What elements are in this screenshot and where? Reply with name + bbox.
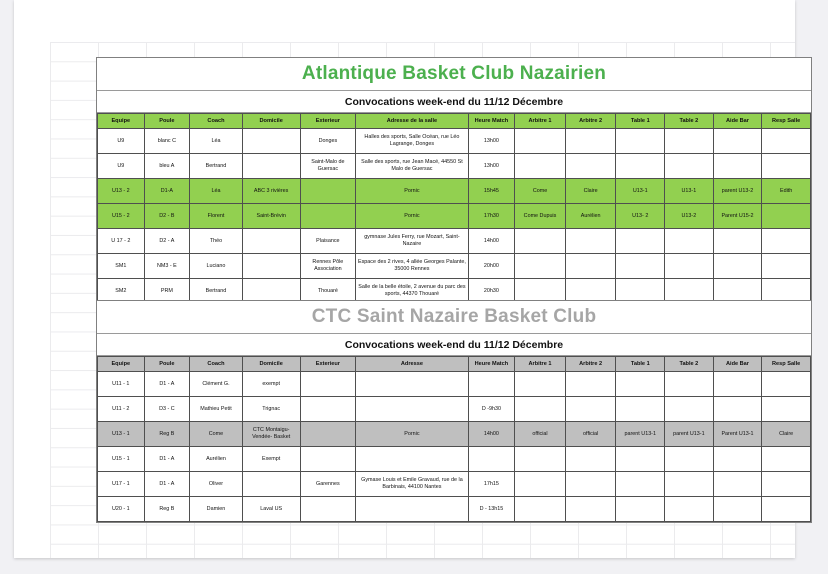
table-cell — [242, 254, 300, 279]
bottom-margin-strip — [0, 558, 828, 574]
table-cell: U13 - 2 — [98, 179, 145, 204]
table-cell — [762, 447, 811, 472]
column-header-resp-salle: Resp Salle — [762, 114, 811, 129]
table-cell — [665, 447, 714, 472]
table-cell — [713, 497, 762, 522]
column-header-arbitre-2: Arbitre 2 — [565, 357, 616, 372]
table-cell: parent U13-1 — [616, 422, 665, 447]
table-cell: 17h15 — [468, 472, 515, 497]
table-cell — [665, 497, 714, 522]
table-row: U11 - 1D1 - AClément G.exempt — [98, 372, 811, 397]
table-cell — [565, 254, 616, 279]
table-cell: Aurélien — [565, 204, 616, 229]
convocations-table-ctc: EquipePouleCoachDomicileExterieurAdresse… — [97, 356, 811, 522]
table-cell — [665, 397, 714, 422]
table-cell — [242, 154, 300, 179]
table-cell: D1 - A — [144, 372, 190, 397]
screenshot-viewport: Atlantique Basket Club Nazairien Convoca… — [0, 0, 828, 574]
table-cell: Saint-Malo de Guersac — [300, 154, 356, 179]
table-cell: Théo — [190, 229, 243, 254]
table-cell: Come Dupuis — [515, 204, 566, 229]
table-cell: U13-1 — [616, 179, 665, 204]
table-cell: Bertrand — [190, 154, 243, 179]
table-cell: 20h00 — [468, 254, 515, 279]
table-cell: U13-1 — [665, 179, 714, 204]
table-cell — [665, 229, 714, 254]
table-row: U13 - 2D1-ALéaABC 3 rivièresPornic15h45C… — [98, 179, 811, 204]
table-cell: Saint-Brévin — [242, 204, 300, 229]
table-cell — [515, 154, 566, 179]
table-cell: Pornic — [356, 422, 468, 447]
table-cell — [762, 154, 811, 179]
table-cell: D - 13h15 — [468, 497, 515, 522]
table-cell — [713, 229, 762, 254]
table-cell — [356, 447, 468, 472]
table-cell: U11 - 2 — [98, 397, 145, 422]
column-header-adresse: Adresse — [356, 357, 468, 372]
table-cell — [565, 229, 616, 254]
table-cell: Reg B — [144, 497, 190, 522]
table-cell — [515, 372, 566, 397]
table-cell — [565, 154, 616, 179]
table-cell — [300, 422, 356, 447]
table-cell: 17h30 — [468, 204, 515, 229]
table-cell — [665, 372, 714, 397]
table-cell — [762, 254, 811, 279]
column-header-domicile: Domicile — [242, 357, 300, 372]
table-cell — [762, 204, 811, 229]
table-row: U15 - 2D2 - BFlorentSaint-BrévinPornic17… — [98, 204, 811, 229]
column-header-table-1: Table 1 — [616, 114, 665, 129]
table-cell — [468, 447, 515, 472]
column-header-heure-match: Heure Match — [468, 357, 515, 372]
table-cell — [565, 129, 616, 154]
document-page: Atlantique Basket Club Nazairien Convoca… — [14, 0, 795, 558]
table-cell — [565, 397, 616, 422]
table-cell: U9 — [98, 154, 145, 179]
table-block-ctc: CTC Saint Nazaire Basket Club Convocatio… — [96, 300, 812, 523]
table-cell: D1 - A — [144, 472, 190, 497]
table-cell — [713, 372, 762, 397]
table-cell: 13h00 — [468, 154, 515, 179]
table-cell — [242, 129, 300, 154]
table-cell — [242, 229, 300, 254]
table-row: U11 - 2D3 - CMathieu PetitTrignacD -9h30 — [98, 397, 811, 422]
column-header-exterieur: Exterieur — [300, 114, 356, 129]
table-cell: U17 - 1 — [98, 472, 145, 497]
table-title-row-ctc: CTC Saint Nazaire Basket Club — [97, 301, 811, 334]
table-cell — [713, 254, 762, 279]
column-header-arbitre-2: Arbitre 2 — [565, 114, 616, 129]
table-cell — [616, 129, 665, 154]
table-cell: U15 - 2 — [98, 204, 145, 229]
left-margin-strip — [0, 0, 15, 574]
table-cell — [356, 397, 468, 422]
table-cell — [468, 372, 515, 397]
table-block-abcn: Atlantique Basket Club Nazairien Convoca… — [96, 57, 812, 330]
table-cell: Léa — [190, 129, 243, 154]
table-row: U17 - 1D1 - AOliverGarennesGymase Louis … — [98, 472, 811, 497]
table-cell: Claire — [762, 422, 811, 447]
table-cell: Garennes — [300, 472, 356, 497]
table-cell: D1-A — [144, 179, 190, 204]
column-header-adresse-de-la-salle: Adresse de la salle — [356, 114, 468, 129]
table-cell — [616, 229, 665, 254]
column-header-coach: Coach — [190, 114, 243, 129]
table-cell: 14h00 — [468, 229, 515, 254]
table-cell — [762, 397, 811, 422]
table-cell — [713, 397, 762, 422]
table-cell: D -9h30 — [468, 397, 515, 422]
table-cell — [762, 372, 811, 397]
table-row: U9blanc CLéaDongesHalles des sports, Sal… — [98, 129, 811, 154]
table-cell — [300, 204, 356, 229]
table-cell: Mathieu Petit — [190, 397, 243, 422]
table-cell: Exempt — [242, 447, 300, 472]
table-cell: U13 - 1 — [98, 422, 145, 447]
table-subtitle-ctc: Convocations week-end du 11/12 Décembre — [345, 339, 563, 351]
table-cell: Espace des 2 rives, 4 allée Georges Pala… — [356, 254, 468, 279]
table-body-ctc: U11 - 1D1 - AClément G.exemptU11 - 2D3 -… — [98, 372, 811, 522]
table-cell: Aurélien — [190, 447, 243, 472]
column-header-poule: Poule — [144, 357, 190, 372]
table-cell — [616, 472, 665, 497]
table-cell — [616, 154, 665, 179]
table-cell: Laval US — [242, 497, 300, 522]
table-cell: Halles des sports, Salle Océan, rue Léo … — [356, 129, 468, 154]
table-cell: official — [565, 422, 616, 447]
table-cell: Luciano — [190, 254, 243, 279]
table-cell — [665, 472, 714, 497]
table-cell — [565, 447, 616, 472]
table-cell — [515, 254, 566, 279]
table-cell: Pornic — [356, 179, 468, 204]
table-body-abcn: U9blanc CLéaDongesHalles des sports, Sal… — [98, 129, 811, 329]
table-cell: bleu A — [144, 154, 190, 179]
column-header-table-2: Table 2 — [665, 357, 714, 372]
table-row: U9bleu ABertrandSaint-Malo de GuersacSal… — [98, 154, 811, 179]
table-cell: NM3 - E — [144, 254, 190, 279]
table-cell: Florent — [190, 204, 243, 229]
table-cell: U11 - 1 — [98, 372, 145, 397]
table-header-row-abcn: EquipePouleCoachDomicileExterieurAdresse… — [98, 114, 811, 129]
table-cell — [616, 397, 665, 422]
table-cell: Come — [515, 179, 566, 204]
table-cell: exempt — [242, 372, 300, 397]
table-cell — [713, 447, 762, 472]
table-cell — [515, 472, 566, 497]
column-header-aide-bar: Aide Bar — [713, 357, 762, 372]
table-cell — [300, 447, 356, 472]
column-header-heure-match: Heure Match — [468, 114, 515, 129]
table-cell: Gymase Louis et Emile Gravaud, rue de la… — [356, 472, 468, 497]
table-cell — [565, 472, 616, 497]
table-cell — [515, 229, 566, 254]
table-cell: Damien — [190, 497, 243, 522]
table-cell: Donges — [300, 129, 356, 154]
table-cell: Oliver — [190, 472, 243, 497]
table-row: U 17 - 2D2 - AThéoPlaisancegymnase Jules… — [98, 229, 811, 254]
column-header-table-1: Table 1 — [616, 357, 665, 372]
column-header-equipe: Equipe — [98, 114, 145, 129]
table-cell: Pornic — [356, 204, 468, 229]
table-cell: parent U13-2 — [713, 179, 762, 204]
table-cell: official — [515, 422, 566, 447]
column-header-arbitre-1: Arbitre 1 — [515, 114, 566, 129]
table-subtitle-row-ctc: Convocations week-end du 11/12 Décembre — [97, 334, 811, 356]
table-cell — [515, 129, 566, 154]
table-cell — [762, 497, 811, 522]
table-cell: D2 - B — [144, 204, 190, 229]
table-cell: gymnase Jules Ferry, rue Mozart, Saint-N… — [356, 229, 468, 254]
table-cell — [665, 254, 714, 279]
table-cell: D2 - A — [144, 229, 190, 254]
table-cell: SM1 — [98, 254, 145, 279]
table-cell: U13- 2 — [616, 204, 665, 229]
table-title-abcn: Atlantique Basket Club Nazairien — [302, 63, 606, 85]
table-cell: Salle des sports, rue Jean Macé, 44550 S… — [356, 154, 468, 179]
table-cell — [616, 372, 665, 397]
table-cell: 14h00 — [468, 422, 515, 447]
table-cell: Parent U15-2 — [713, 204, 762, 229]
table-cell: Léa — [190, 179, 243, 204]
table-cell: U15 - 1 — [98, 447, 145, 472]
column-header-exterieur: Exterieur — [300, 357, 356, 372]
table-cell: U9 — [98, 129, 145, 154]
table-cell: Trignac — [242, 397, 300, 422]
table-cell — [665, 129, 714, 154]
column-header-resp-salle: Resp Salle — [762, 357, 811, 372]
table-cell — [515, 397, 566, 422]
column-header-poule: Poule — [144, 114, 190, 129]
table-cell — [515, 447, 566, 472]
table-cell — [242, 472, 300, 497]
table-cell — [616, 497, 665, 522]
table-cell: Clément G. — [190, 372, 243, 397]
table-cell — [762, 472, 811, 497]
table-cell: blanc C — [144, 129, 190, 154]
table-cell: 13h00 — [468, 129, 515, 154]
table-cell — [515, 497, 566, 522]
column-header-table-2: Table 2 — [665, 114, 714, 129]
table-row: SM1NM3 - ELucianoRennes Pôle Association… — [98, 254, 811, 279]
table-cell: Come — [190, 422, 243, 447]
table-row: U13 - 1Reg BComeCTC Montaigu-Vendée- Bas… — [98, 422, 811, 447]
column-header-aide-bar: Aide Bar — [713, 114, 762, 129]
table-cell: Claire — [565, 179, 616, 204]
table-cell — [565, 372, 616, 397]
table-cell: Parent U13-1 — [713, 422, 762, 447]
table-cell — [713, 129, 762, 154]
table-header-row-ctc: EquipePouleCoachDomicileExterieurAdresse… — [98, 357, 811, 372]
table-cell: D1 - A — [144, 447, 190, 472]
table-cell: ABC 3 rivières — [242, 179, 300, 204]
table-subtitle-abcn: Convocations week-end du 11/12 Décembre — [345, 96, 563, 108]
table-cell: Rennes Pôle Association — [300, 254, 356, 279]
table-cell — [300, 397, 356, 422]
column-header-arbitre-1: Arbitre 1 — [515, 357, 566, 372]
table-cell: U20 - 1 — [98, 497, 145, 522]
table-cell: 15h45 — [468, 179, 515, 204]
table-cell — [762, 229, 811, 254]
table-cell: U 17 - 2 — [98, 229, 145, 254]
table-cell: CTC Montaigu-Vendée- Basket — [242, 422, 300, 447]
table-cell — [713, 472, 762, 497]
table-cell — [616, 447, 665, 472]
table-cell — [300, 372, 356, 397]
table-cell — [665, 154, 714, 179]
table-cell — [762, 129, 811, 154]
table-row: U15 - 1D1 - AAurélienExempt — [98, 447, 811, 472]
table-cell: Plaisance — [300, 229, 356, 254]
table-cell — [356, 497, 468, 522]
table-cell — [713, 154, 762, 179]
table-cell — [616, 254, 665, 279]
table-cell — [356, 372, 468, 397]
table-cell: Reg B — [144, 422, 190, 447]
table-cell — [300, 179, 356, 204]
column-header-equipe: Equipe — [98, 357, 145, 372]
column-header-domicile: Domicile — [242, 114, 300, 129]
column-header-coach: Coach — [190, 357, 243, 372]
table-cell — [565, 497, 616, 522]
table-row: U20 - 1Reg BDamienLaval USD - 13h15 — [98, 497, 811, 522]
table-cell: Edith — [762, 179, 811, 204]
table-subtitle-row-abcn: Convocations week-end du 11/12 Décembre — [97, 91, 811, 113]
table-title-ctc: CTC Saint Nazaire Basket Club — [312, 306, 597, 328]
table-cell — [300, 497, 356, 522]
table-cell: parent U13-1 — [665, 422, 714, 447]
table-title-row-abcn: Atlantique Basket Club Nazairien — [97, 58, 811, 91]
convocations-table-abcn: EquipePouleCoachDomicileExterieurAdresse… — [97, 113, 811, 329]
table-cell: U13-2 — [665, 204, 714, 229]
table-cell: D3 - C — [144, 397, 190, 422]
